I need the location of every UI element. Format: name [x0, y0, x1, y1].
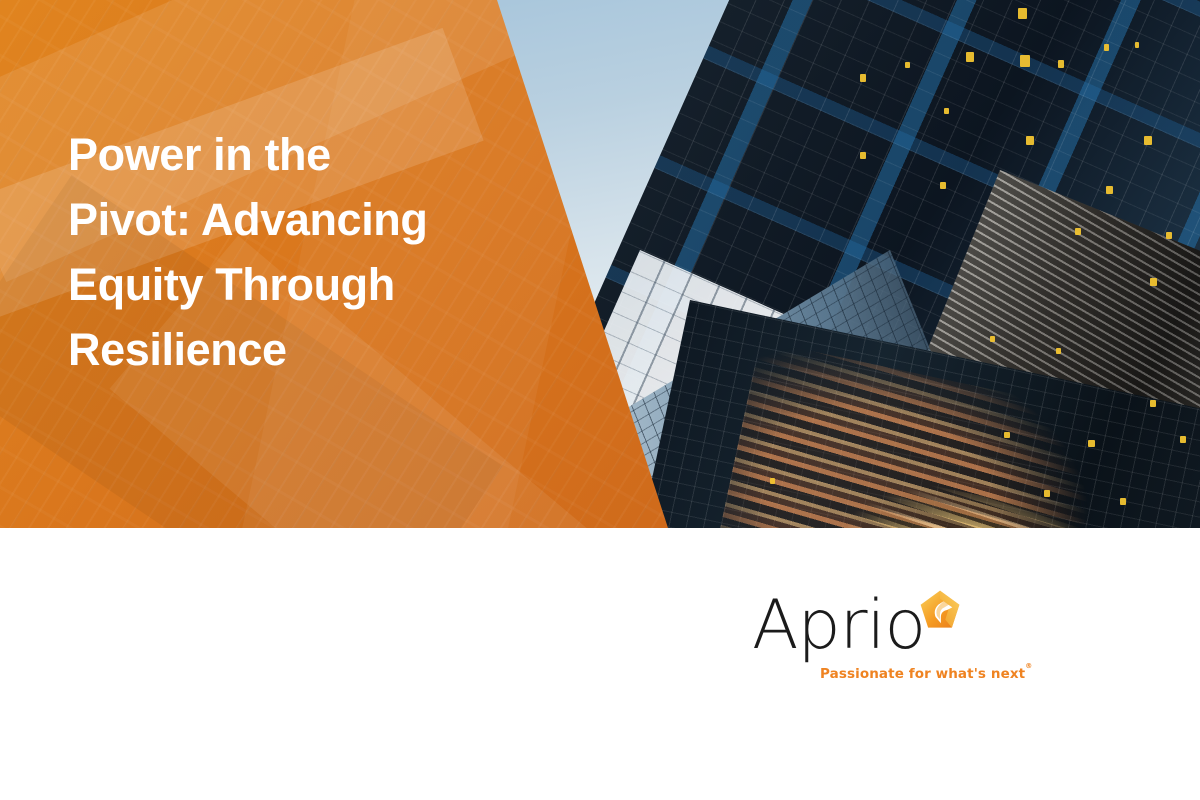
- hero-banner: Power in the Pivot: Advancing Equity Thr…: [0, 0, 1200, 528]
- logo-tagline-registered: ®: [1025, 662, 1032, 670]
- title-line-2: Pivot: Advancing: [68, 187, 488, 252]
- title-line-3: Equity Through: [68, 252, 488, 317]
- aprio-pentagon-mark: [918, 588, 962, 632]
- title-line-4: Resilience: [68, 317, 488, 382]
- title-line-1: Power in the: [68, 122, 488, 187]
- logo-wordmark: Aprio: [752, 592, 925, 660]
- aprio-logo: Aprio ®: [752, 592, 967, 684]
- logo-tagline-text: Passionate for what's next: [820, 666, 1025, 682]
- logo-tagline: Passionate for what's next®: [820, 666, 1032, 682]
- slide-root: Power in the Pivot: Advancing Equity Thr…: [0, 0, 1200, 800]
- page-title: Power in the Pivot: Advancing Equity Thr…: [68, 122, 488, 382]
